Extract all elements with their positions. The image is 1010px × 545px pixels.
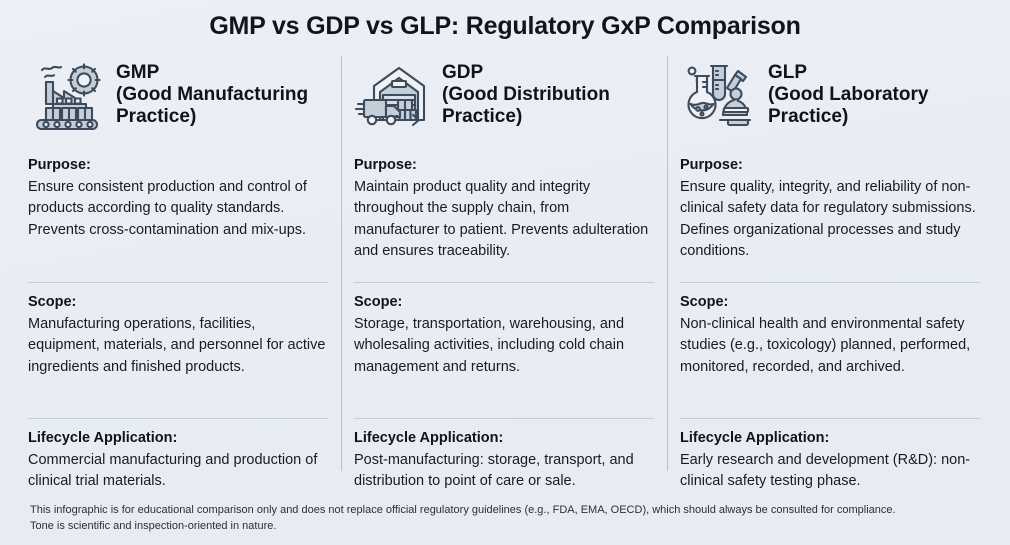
column-glp: GLP (Good Laboratory Practice) Purpose: … bbox=[668, 52, 994, 497]
comparison-columns: GMP (Good Manufacturing Practice) Purpos… bbox=[0, 52, 1010, 497]
flask-microscope-icon bbox=[680, 58, 758, 132]
column-abbr: GMP bbox=[116, 62, 328, 84]
section-scope-gdp: Scope: Storage, transportation, warehous… bbox=[354, 282, 654, 410]
column-header-gdp: GDP (Good Distribution Practice) bbox=[354, 58, 654, 144]
footer-line-1: This infographic is for educational comp… bbox=[30, 503, 982, 519]
column-gmp: GMP (Good Manufacturing Practice) Purpos… bbox=[16, 52, 342, 497]
column-full-name: (Good Manufacturing Practice) bbox=[116, 84, 328, 128]
section-text: Commercial manufacturing and production … bbox=[28, 450, 328, 493]
infographic-root: GMP vs GDP vs GLP: Regulatory GxP Compar… bbox=[0, 0, 1010, 545]
column-header-glp: GLP (Good Laboratory Practice) bbox=[680, 58, 980, 144]
section-label: Purpose: bbox=[28, 155, 328, 176]
column-full-name: (Good Distribution Practice) bbox=[442, 84, 654, 128]
footer-disclaimer: This infographic is for educational comp… bbox=[0, 497, 1010, 545]
title-bar: GMP vs GDP vs GLP: Regulatory GxP Compar… bbox=[0, 0, 1010, 52]
column-full-name: (Good Laboratory Practice) bbox=[768, 84, 980, 128]
column-gdp: GDP (Good Distribution Practice) Purpose… bbox=[342, 52, 668, 497]
section-text: Manufacturing operations, facilities, eq… bbox=[28, 314, 328, 378]
section-label: Purpose: bbox=[354, 155, 654, 176]
section-scope-glp: Scope: Non-clinical health and environme… bbox=[680, 282, 980, 410]
section-lifecycle-glp: Lifecycle Application: Early research an… bbox=[680, 418, 980, 493]
column-title-gmp: GMP (Good Manufacturing Practice) bbox=[116, 58, 328, 128]
section-purpose-gdp: Purpose: Maintain product quality and in… bbox=[354, 146, 654, 274]
footer-line-2: Tone is scientific and inspection-orient… bbox=[30, 519, 982, 535]
section-text: Post-manufacturing: storage, transport, … bbox=[354, 450, 654, 493]
section-label: Lifecycle Application: bbox=[354, 428, 654, 449]
section-text: Ensure quality, integrity, and reliabili… bbox=[680, 177, 980, 263]
section-label: Scope: bbox=[28, 292, 328, 313]
page-title: GMP vs GDP vs GLP: Regulatory GxP Compar… bbox=[209, 12, 800, 41]
section-label: Scope: bbox=[354, 292, 654, 313]
section-label: Lifecycle Application: bbox=[680, 428, 980, 449]
section-label: Lifecycle Application: bbox=[28, 428, 328, 449]
section-text: Non-clinical health and environmental sa… bbox=[680, 314, 980, 378]
section-purpose-glp: Purpose: Ensure quality, integrity, and … bbox=[680, 146, 980, 274]
section-text: Ensure consistent production and control… bbox=[28, 177, 328, 241]
column-abbr: GLP bbox=[768, 62, 980, 84]
column-title-gdp: GDP (Good Distribution Practice) bbox=[442, 58, 654, 128]
section-label: Scope: bbox=[680, 292, 980, 313]
section-text: Maintain product quality and integrity t… bbox=[354, 177, 654, 263]
section-text: Early research and development (R&D): no… bbox=[680, 450, 980, 493]
section-scope-gmp: Scope: Manufacturing operations, facilit… bbox=[28, 282, 328, 410]
factory-gear-conveyor-icon bbox=[28, 58, 106, 132]
section-text: Storage, transportation, warehousing, an… bbox=[354, 314, 654, 378]
warehouse-truck-icon bbox=[354, 58, 432, 132]
section-lifecycle-gdp: Lifecycle Application: Post-manufacturin… bbox=[354, 418, 654, 493]
column-abbr: GDP bbox=[442, 62, 654, 84]
column-title-glp: GLP (Good Laboratory Practice) bbox=[768, 58, 980, 128]
section-purpose-gmp: Purpose: Ensure consistent production an… bbox=[28, 146, 328, 274]
column-header-gmp: GMP (Good Manufacturing Practice) bbox=[28, 58, 328, 144]
section-label: Purpose: bbox=[680, 155, 980, 176]
section-lifecycle-gmp: Lifecycle Application: Commercial manufa… bbox=[28, 418, 328, 493]
